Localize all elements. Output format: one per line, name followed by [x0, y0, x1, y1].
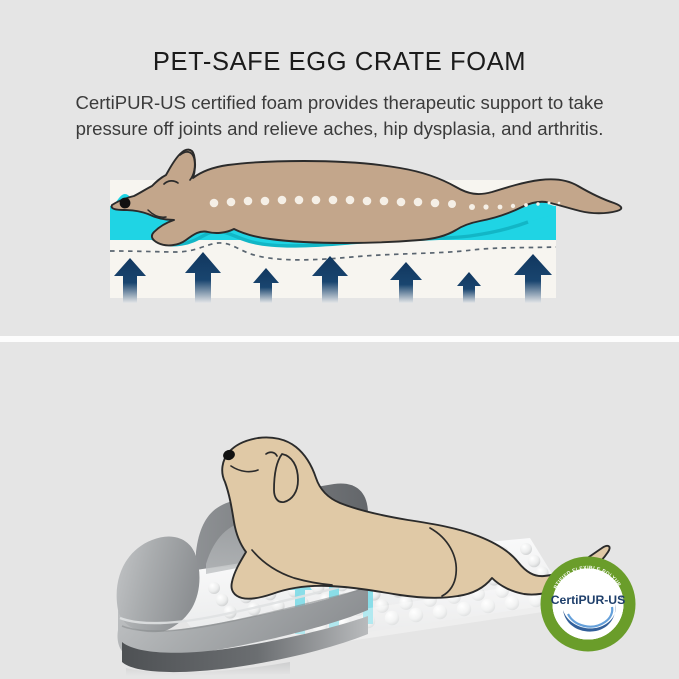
certipur-us-seal: CONTAINS CERTIFIED FLEXIBLE POLYURETHANE… [545, 561, 631, 647]
infographic-page: PET-SAFE EGG CRATE FOAM CertiPUR-US cert… [0, 0, 679, 679]
dog-nose [120, 198, 131, 209]
subtitle-line-2: pressure off joints and relieve aches, h… [20, 116, 660, 142]
panel-increased-airflow: CONTAINS CERTIFIED FLEXIBLE POLYURETHANE… [0, 342, 679, 679]
subtitle-line-1: CertiPUR-US certified foam provides ther… [20, 90, 660, 116]
page-title-egg-crate-foam: PET-SAFE EGG CRATE FOAM [0, 48, 679, 77]
panel-pet-safe-egg-crate-foam: PET-SAFE EGG CRATE FOAM CertiPUR-US cert… [0, 0, 679, 337]
seal-brand-text: CertiPUR-US [551, 593, 626, 607]
subtitle-egg-crate-foam: CertiPUR-US certified foam provides ther… [20, 90, 660, 142]
illustration-bolster-bed-airflow: CONTAINS CERTIFIED FLEXIBLE POLYURETHANE… [0, 342, 679, 679]
